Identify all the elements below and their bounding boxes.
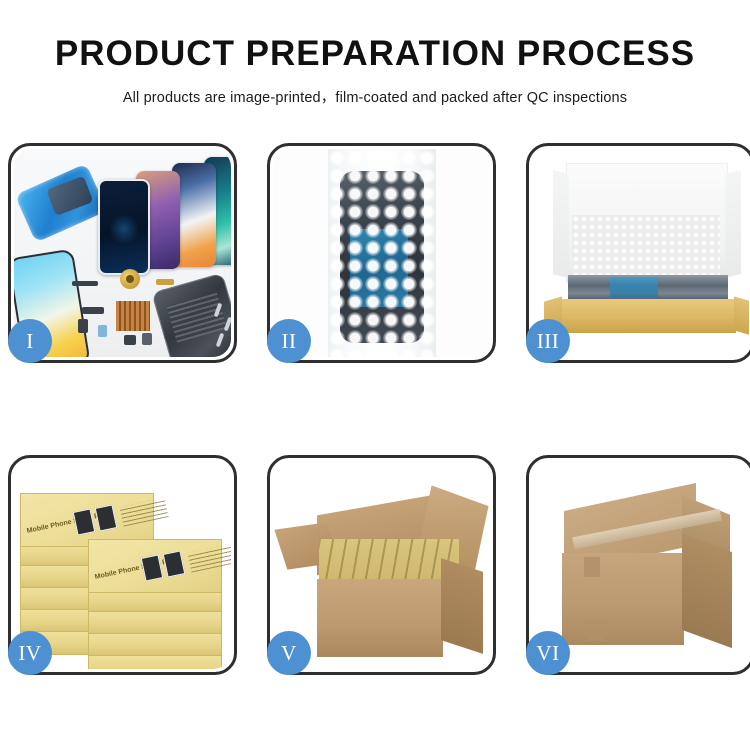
stacked-box-r2 (88, 633, 222, 657)
button-part (124, 335, 136, 345)
process-step-card-2[interactable]: II (267, 143, 496, 363)
kraft-tray-graphic (560, 299, 736, 333)
foam-liner-graphic (572, 215, 720, 281)
connector-part-2 (78, 319, 88, 333)
process-step-card-1[interactable]: I (8, 143, 237, 363)
box-phone-thumb-2b (163, 550, 186, 577)
connector-part-1 (82, 307, 104, 314)
box-phone-thumb-1b (95, 504, 118, 531)
bubble-layer-front (328, 149, 436, 357)
process-step-card-6[interactable]: VI (526, 455, 750, 675)
flex-cable-part-1 (156, 279, 174, 285)
speaker-part (72, 281, 98, 286)
box-phone-thumb-2a (141, 554, 164, 581)
coil-part (120, 269, 140, 289)
process-step-card-5[interactable]: V (267, 455, 496, 675)
step-badge-2: II (267, 319, 311, 363)
wrapped-goods-graphic (568, 275, 728, 301)
sealed-carton-front (562, 553, 684, 645)
step-badge-4: IV (8, 631, 52, 675)
page-subtitle: All products are image-printed，film-coat… (0, 73, 750, 107)
box-phone-thumb-1a (73, 508, 96, 535)
tape-tab-upper (584, 557, 600, 577)
process-step-grid: I II III (8, 143, 742, 673)
screws-group (214, 299, 231, 357)
step-badge-5: V (267, 631, 311, 675)
stacked-box-r3 (88, 611, 222, 635)
step-badge-3: III (526, 319, 570, 363)
tape-tab-lower (588, 621, 604, 641)
carton-side-face (441, 558, 483, 654)
infographic-page: PRODUCT PREPARATION PROCESS All products… (0, 0, 750, 750)
camera-part (142, 333, 152, 345)
display-fan-group (92, 157, 231, 277)
box-spec-lines-1 (119, 497, 168, 526)
carton-front-face (317, 579, 443, 657)
screw-1 (214, 303, 223, 318)
step-badge-6: VI (526, 631, 570, 675)
copper-pad-part (116, 301, 150, 331)
stacked-box-top-right: Mobile Phone Spare Parts (88, 539, 222, 593)
step-badge-1: I (8, 319, 52, 363)
screw-3 (216, 333, 225, 348)
stacked-box-r1 (88, 655, 222, 669)
box-spec-lines-2 (187, 543, 231, 572)
sim-tray-part (98, 325, 107, 337)
sealed-carton-side (682, 534, 732, 648)
phone-display-dark (98, 179, 150, 275)
page-title: PRODUCT PREPARATION PROCESS (0, 0, 750, 73)
screw-2 (224, 317, 231, 332)
header: PRODUCT PREPARATION PROCESS All products… (0, 0, 750, 107)
process-step-card-4[interactable]: Mobile Phone Spare Parts Mobile Phone Sp… (8, 455, 237, 675)
process-step-card-3[interactable]: III (526, 143, 750, 363)
